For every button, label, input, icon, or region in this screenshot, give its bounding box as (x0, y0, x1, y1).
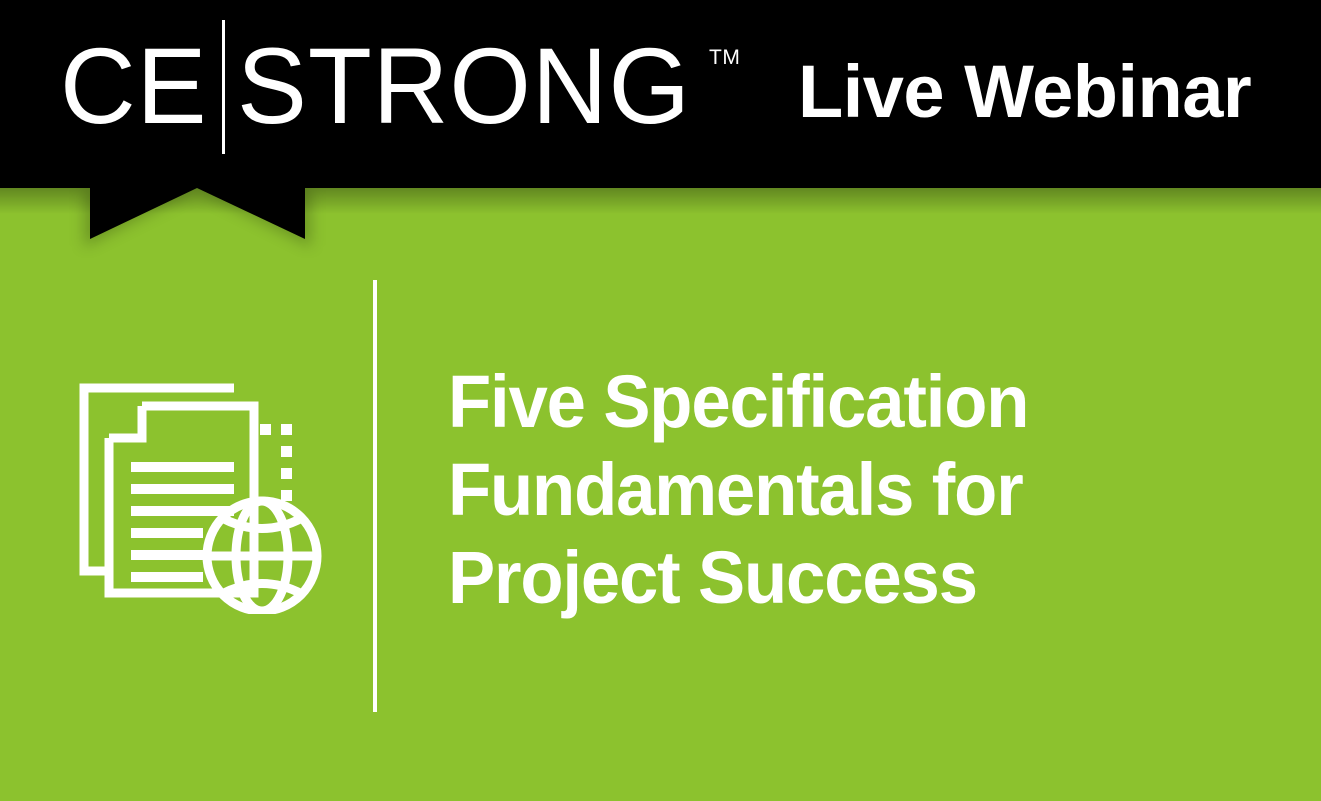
logo-separator-bar (222, 20, 225, 154)
webinar-promo-card: CE STRONG TM Live Webinar (0, 0, 1321, 801)
title-line-1: Five Specification (448, 358, 1040, 446)
logo-text-ce: CE (60, 32, 207, 140)
page-title: Five Specification Fundamentals for Proj… (448, 358, 1068, 622)
front-document-fold (109, 406, 142, 438)
vertical-divider (373, 280, 377, 712)
title-line-2: Fundamentals for (448, 446, 1040, 534)
globe-icon (207, 501, 317, 611)
logo-text-strong: STRONG (237, 32, 691, 140)
banner-pointer-tab (90, 188, 305, 239)
dotted-connector (260, 424, 292, 501)
brand-logo[interactable]: CE STRONG TM (60, 26, 740, 146)
documents-globe-icon (74, 366, 322, 614)
title-line-3: Project Success (448, 534, 1040, 622)
event-type-label: Live Webinar (798, 55, 1251, 129)
trademark-symbol: TM (709, 46, 740, 70)
